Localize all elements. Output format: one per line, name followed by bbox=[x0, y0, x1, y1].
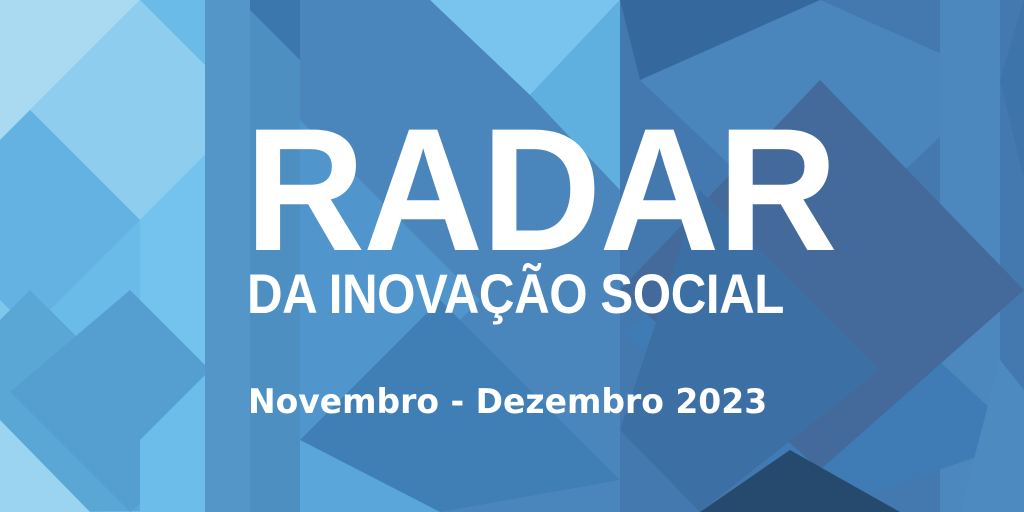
page-subtitle: DA INOVAÇÃO SOCIAL bbox=[247, 266, 784, 322]
banner-text-block: RADAR DA INOVAÇÃO SOCIAL Novembro - Deze… bbox=[245, 0, 1024, 512]
issue-date-label: Novembro - Dezembro 2023 bbox=[248, 383, 767, 421]
radar-banner: RADAR DA INOVAÇÃO SOCIAL Novembro - Deze… bbox=[0, 0, 1024, 512]
vertical-band bbox=[205, 0, 250, 512]
page-title: RADAR bbox=[245, 103, 836, 278]
